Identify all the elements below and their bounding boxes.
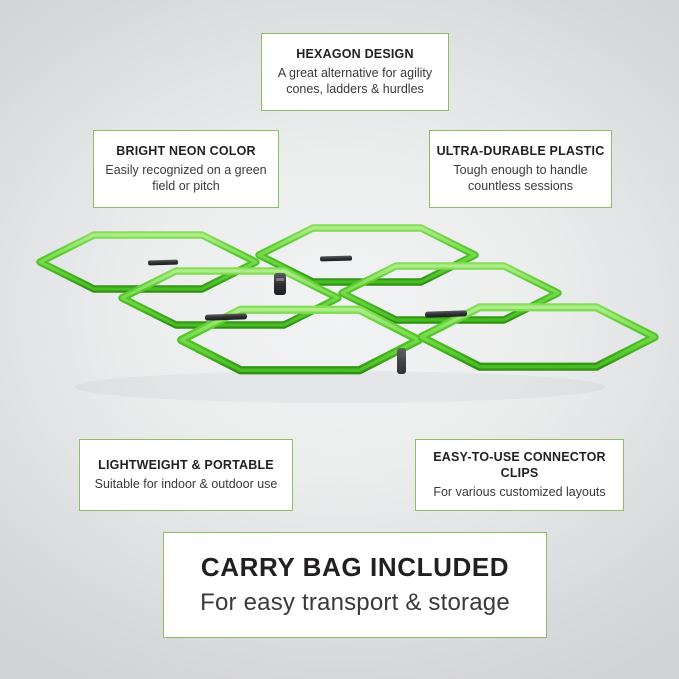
callout-title: LIGHTWEIGHT & PORTABLE <box>98 458 274 474</box>
connector-clip <box>320 256 352 262</box>
callout-subtitle: For various customized layouts <box>433 484 605 500</box>
callout-subtitle: For easy transport & storage <box>200 588 510 619</box>
callout-title: CARRY BAG INCLUDED <box>201 551 509 584</box>
callout-title: EASY-TO-USE CONNECTOR CLIPS <box>422 450 617 481</box>
callout-subtitle: Suitable for indoor & outdoor use <box>95 476 278 492</box>
callout-easy-to-use-connector-clips: EASY-TO-USE CONNECTOR CLIPS For various … <box>415 439 624 511</box>
callout-subtitle: Tough enough to handle countless session… <box>436 162 605 194</box>
connector-clip <box>205 313 247 320</box>
callout-title: ULTRA-DURABLE PLASTIC <box>437 144 605 160</box>
product-image-hexagon-agility-rings <box>0 205 679 420</box>
callout-title: HEXAGON DESIGN <box>296 47 413 63</box>
connector-clip-center <box>274 273 286 295</box>
connector-clip <box>148 260 178 266</box>
infographic-canvas: HEXAGON DESIGN A great alternative for a… <box>0 0 679 679</box>
callout-subtitle: Easily recognized on a green field or pi… <box>100 162 272 194</box>
callout-hexagon-design: HEXAGON DESIGN A great alternative for a… <box>261 33 449 111</box>
callout-lightweight-portable: LIGHTWEIGHT & PORTABLE Suitable for indo… <box>79 439 293 511</box>
connector-clip-front <box>397 348 406 374</box>
callout-subtitle: A great alternative for agility cones, l… <box>268 65 442 97</box>
callout-bright-neon-color: BRIGHT NEON COLOR Easily recognized on a… <box>93 130 279 208</box>
callout-carry-bag-included: CARRY BAG INCLUDED For easy transport & … <box>163 532 547 638</box>
callout-title: BRIGHT NEON COLOR <box>116 144 256 160</box>
callout-ultra-durable-plastic: ULTRA-DURABLE PLASTIC Tough enough to ha… <box>429 130 612 208</box>
